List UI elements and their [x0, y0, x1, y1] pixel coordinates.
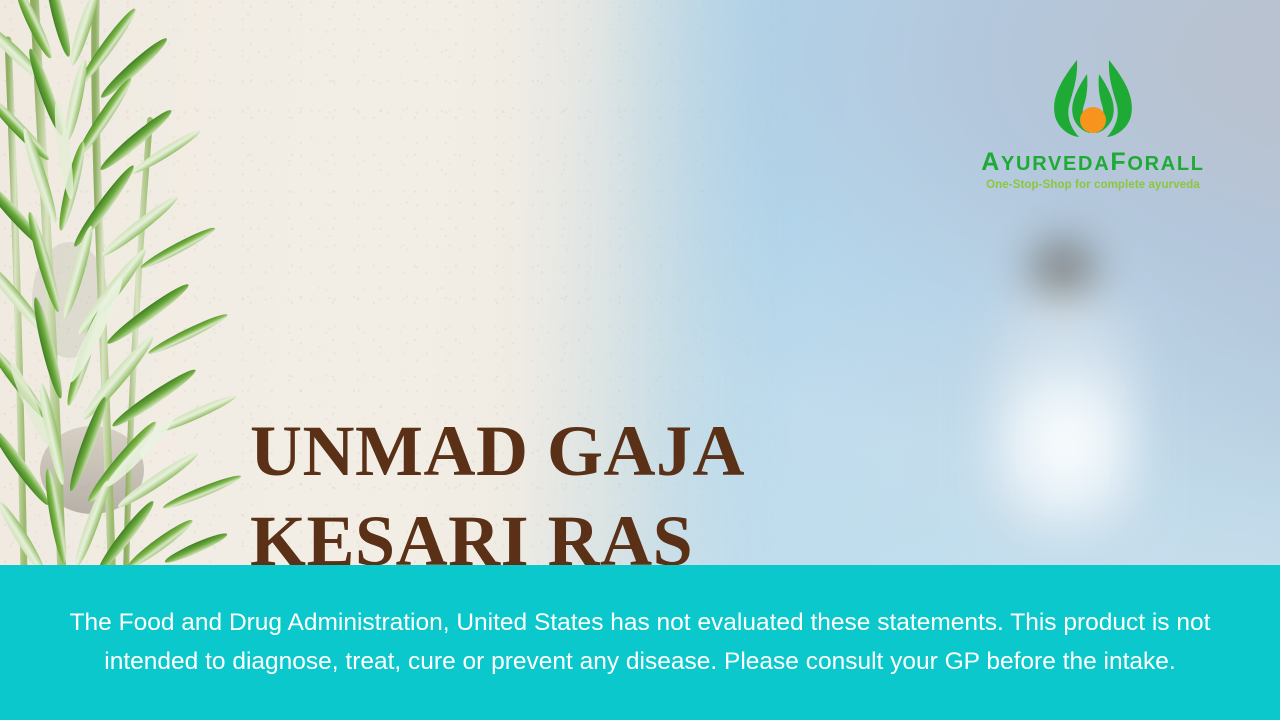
- bottle-cap: [1032, 242, 1094, 294]
- rosemary-sprigs-image: [0, 0, 250, 566]
- brand-wordmark-a: A: [981, 148, 1001, 176]
- product-banner: AYURVEDAFORALL One-Stop-Shop for complet…: [0, 0, 1280, 720]
- flame-leaf-logo-icon: [962, 58, 1224, 144]
- brand-wordmark-f: F: [1110, 148, 1127, 176]
- bottle-body: [986, 294, 1140, 536]
- disclaimer-bar: The Food and Drug Administration, United…: [0, 565, 1280, 720]
- brand-wordmark-orall: ORALL: [1127, 153, 1204, 175]
- brand-tagline: One-Stop-Shop for complete ayurveda: [962, 180, 1224, 192]
- product-bottle-image: [978, 236, 1148, 536]
- brand-logo[interactable]: AYURVEDAFORALL One-Stop-Shop for complet…: [962, 58, 1224, 192]
- brand-wordmark-yurveda: YURVEDA: [1001, 153, 1110, 175]
- brand-wordmark: AYURVEDAFORALL: [962, 150, 1224, 175]
- disclaimer-text: The Food and Drug Administration, United…: [45, 604, 1235, 681]
- page-title-line-1: Unmad Gaja: [250, 406, 930, 496]
- page-title: Unmad Gaja Kesari Ras: [250, 406, 930, 586]
